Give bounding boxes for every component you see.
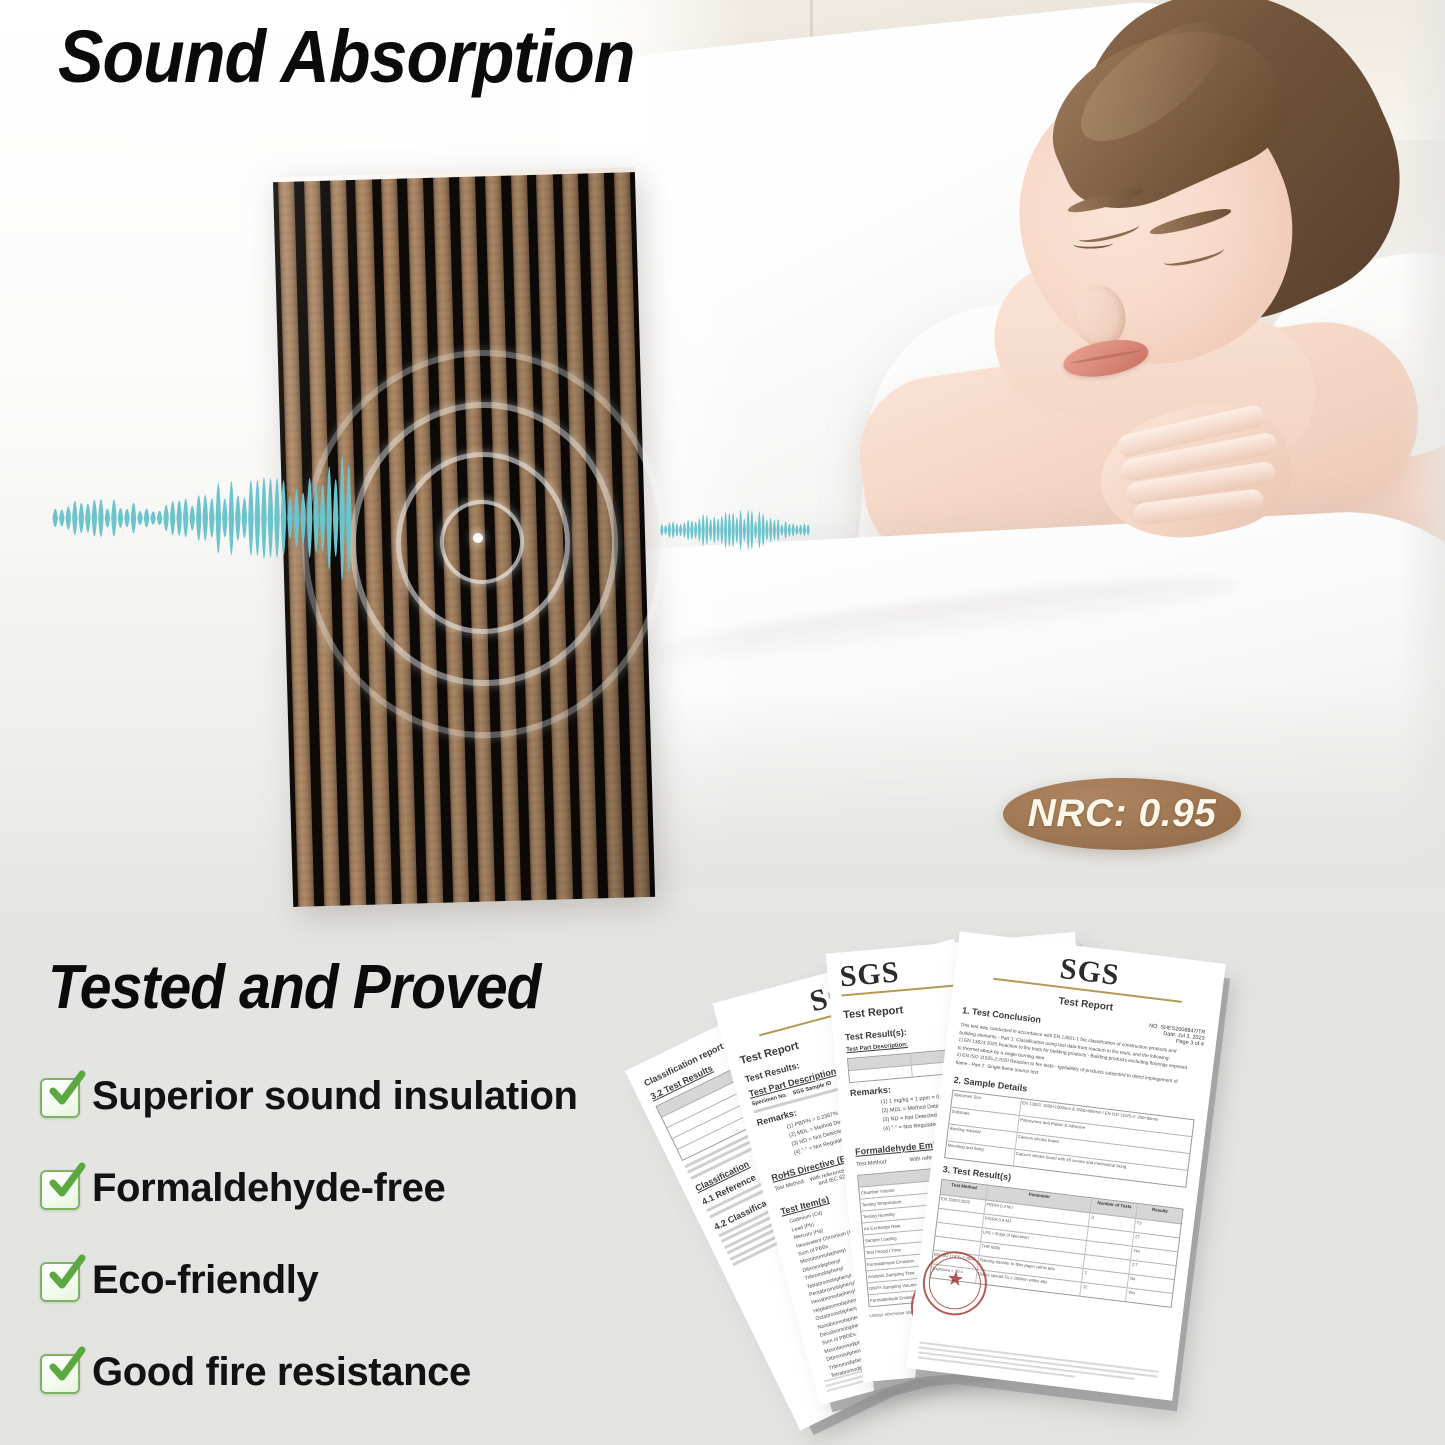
waveform-bar: [176, 500, 181, 536]
feature-item: Superior sound insulation: [40, 1050, 700, 1142]
feature-item: Eco-friendly: [40, 1234, 700, 1326]
seal-star-icon: ★: [945, 1269, 965, 1291]
waveform-bar: [124, 509, 129, 527]
check-box-icon: [40, 1260, 80, 1300]
waveform-bar: [777, 519, 780, 541]
waveform-bar: [346, 465, 351, 571]
waveform-bar: [687, 520, 690, 540]
waveform-bar: [739, 510, 742, 550]
check-mark: [43, 1345, 87, 1389]
waveform-bar: [750, 511, 753, 550]
waveform-bar: [163, 505, 168, 531]
certificate-page: SGS Test Report 1. Test Conclusion NO. S…: [906, 931, 1226, 1400]
waveform-bar: [287, 497, 292, 539]
cert-section-1: 1. Test Conclusion: [962, 1005, 1042, 1025]
waveform-bar: [281, 480, 286, 556]
cert-report-title: Test Report: [843, 1004, 904, 1021]
sound-ring: [440, 500, 524, 584]
waveform-bar: [807, 525, 810, 536]
waveform-bar: [216, 483, 221, 554]
sgs-certificate-stack: Classification report: SGS Certificate 3…: [700, 920, 1320, 1430]
cert-footer: [917, 1339, 1166, 1392]
waveform-bar: [53, 509, 58, 527]
waveform-bar: [683, 522, 686, 537]
waveform-bar: [111, 499, 116, 536]
waveform-bar: [203, 495, 208, 541]
waveform-bar: [255, 480, 260, 556]
waveform-bar: [702, 514, 705, 546]
waveform-bar: [788, 524, 791, 537]
waveform-bar: [694, 521, 697, 538]
waveform-bar: [675, 524, 678, 537]
certificate-content: SGS Test Report 1. Test Conclusion NO. S…: [906, 931, 1226, 1400]
check-box-icon: [40, 1168, 80, 1208]
waveform-bar: [274, 478, 279, 558]
waveform-bar: [743, 519, 746, 542]
waveform-bar: [735, 517, 738, 543]
waveform-bar: [717, 519, 720, 542]
waveform-bar: [799, 525, 802, 536]
waveform-bar: [780, 524, 783, 535]
cert-no-label: NO.: [1149, 1023, 1159, 1030]
sound-origin-dot: [473, 533, 483, 543]
product-infographic: Sound Absorption Tested and Proved NRC: …: [0, 0, 1445, 1445]
waveform-bar: [72, 501, 77, 535]
feature-item: Formaldehyde-free: [40, 1142, 700, 1234]
waveform-bar: [339, 456, 344, 580]
waveform-bar: [792, 523, 795, 536]
waveform-bar: [300, 493, 305, 543]
waveform-bar: [660, 524, 663, 536]
waveform-bar: [333, 479, 338, 557]
feature-label: Superior sound insulation: [92, 1074, 578, 1119]
waveform-bar: [118, 508, 123, 528]
check-mark: [43, 1069, 87, 1113]
waveform-bar: [679, 524, 682, 537]
waveform-bar: [690, 520, 693, 539]
waveform-bar: [765, 519, 768, 540]
check-box-icon: [40, 1076, 80, 1116]
waveform-bar: [758, 511, 761, 548]
waveform-bar: [144, 509, 149, 528]
waveform-bar: [189, 506, 194, 531]
waveform-bar: [784, 521, 787, 539]
nrc-badge: NRC: 0.95: [1003, 778, 1241, 850]
waveform-bar: [196, 495, 201, 540]
waveform-bar: [769, 518, 772, 542]
waveform-bar: [754, 521, 757, 539]
waveform-bar: [229, 481, 234, 555]
waveform-bar: [724, 512, 727, 548]
waveform-bar: [668, 522, 671, 538]
waveform-bar: [313, 484, 318, 553]
waveform-bar: [242, 498, 247, 539]
waveform-bar: [326, 466, 331, 570]
nrc-badge-label: NRC: 0.95: [1028, 792, 1217, 836]
cert-method-label: Test Method:: [856, 1159, 888, 1168]
waveform-bar: [294, 489, 299, 547]
waveform-bar: [59, 510, 64, 527]
sleeping-woman-photo: [560, 0, 1445, 890]
waveform-bar: [672, 522, 675, 539]
waveform-bar: [268, 478, 273, 557]
waveform-bar: [85, 504, 90, 533]
waveform-bar: [150, 511, 155, 524]
waveform-bar: [698, 518, 701, 541]
incoming-sound-waveform: [52, 388, 352, 648]
feature-item: Good fire resistance: [40, 1326, 700, 1418]
waveform-bar: [98, 499, 103, 537]
waveform-bar: [137, 511, 142, 525]
waveform-bar: [66, 506, 71, 529]
waveform-bar: [713, 517, 716, 544]
waveform-bar: [705, 515, 708, 545]
feature-label: Formaldehyde-free: [92, 1166, 445, 1211]
waveform-bar: [105, 508, 110, 527]
waveform-bar: [79, 503, 84, 533]
waveform-bar: [773, 520, 776, 540]
check-box-icon: [40, 1352, 80, 1392]
waveform-bar: [222, 499, 227, 538]
waveform-bar: [92, 499, 97, 536]
section-title: Tested and Proved: [48, 952, 541, 1023]
waveform-bar: [248, 481, 253, 556]
waveform-bar: [170, 501, 175, 535]
waveform-bar: [720, 516, 723, 544]
waveform-bar: [709, 519, 712, 541]
waveform-bar: [157, 511, 162, 526]
photo-bottom-fade: [560, 690, 1445, 890]
page-title: Sound Absorption: [58, 14, 634, 99]
waveform-bar: [235, 495, 240, 541]
waveform-bar: [183, 499, 188, 538]
attenuated-sound-waveform: [660, 485, 810, 575]
waveform-bar: [762, 514, 765, 547]
waveform-bar: [131, 503, 136, 534]
feature-label: Good fire resistance: [92, 1350, 471, 1395]
feature-list: Superior sound insulation Formaldehyde-f…: [40, 1050, 700, 1418]
waveform-bar: [209, 498, 214, 537]
waveform-bar: [664, 525, 667, 534]
check-mark: [43, 1253, 87, 1297]
waveform-bar: [747, 510, 750, 550]
waveform-bar: [795, 525, 798, 535]
waveform-bar: [728, 513, 731, 548]
waveform-bar: [307, 478, 312, 558]
waveform-bar: [803, 523, 806, 536]
waveform-bar: [732, 513, 735, 548]
check-mark: [43, 1161, 87, 1205]
feature-label: Eco-friendly: [92, 1258, 318, 1303]
waveform-bar: [261, 477, 266, 559]
waveform-bar: [320, 484, 325, 552]
